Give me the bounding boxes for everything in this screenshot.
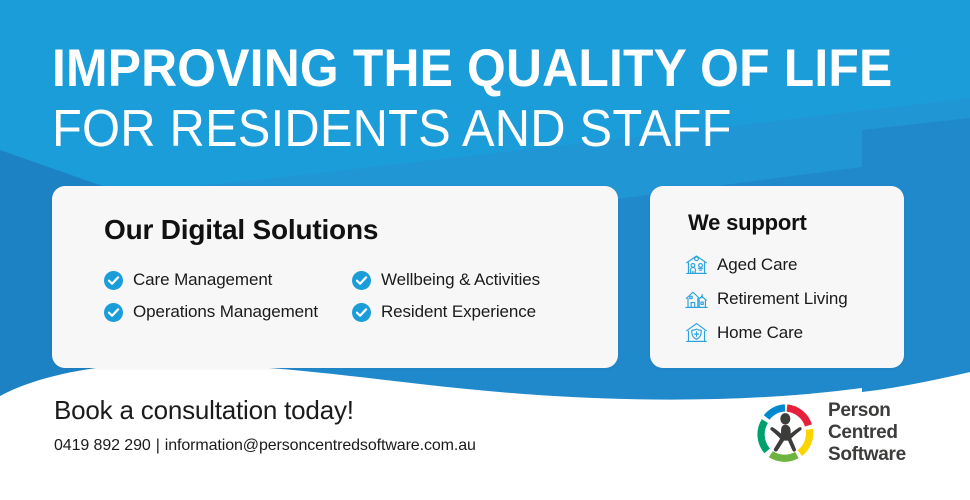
headline-line-1: IMPROVING THE QUALITY OF LIFE bbox=[52, 42, 889, 95]
promotional-banner: IMPROVING THE QUALITY OF LIFE FOR RESIDE… bbox=[0, 0, 970, 500]
ring-segment-yellow bbox=[800, 429, 810, 453]
person-in-ring-logo-icon bbox=[752, 400, 818, 466]
contact-line: 0419 892 290|information@personcentredso… bbox=[54, 437, 476, 455]
headline-line-2: FOR RESIDENTS AND STAFF bbox=[52, 103, 889, 155]
logo-line-3: Software bbox=[828, 444, 906, 466]
list-item-label: Retirement Living bbox=[717, 289, 848, 309]
person-figure bbox=[770, 413, 801, 451]
logo-wordmark: Person Centred Software bbox=[828, 400, 906, 467]
list-item-label: Care Management bbox=[133, 270, 272, 290]
headline: IMPROVING THE QUALITY OF LIFE FOR RESIDE… bbox=[52, 42, 942, 155]
list-item: Aged Care bbox=[684, 252, 848, 277]
we-support-title: We support bbox=[688, 210, 807, 236]
phone-number[interactable]: 0419 892 290 bbox=[54, 437, 151, 454]
retirement-living-house-icon bbox=[684, 286, 709, 311]
list-item-label: Wellbeing & Activities bbox=[381, 270, 540, 290]
list-item-label: Aged Care bbox=[717, 255, 797, 275]
check-circle-icon bbox=[352, 303, 371, 322]
digital-solutions-list: Care Management Wellbeing & Activities O… bbox=[104, 270, 604, 322]
check-circle-icon bbox=[352, 271, 371, 290]
list-item: Resident Experience bbox=[352, 302, 600, 322]
list-item-label: Resident Experience bbox=[381, 302, 536, 322]
company-logo: Person Centred Software bbox=[752, 398, 912, 468]
check-circle-icon bbox=[104, 271, 123, 290]
ring-segment-teal bbox=[761, 421, 767, 451]
we-support-card: We support Aged Care bbox=[650, 186, 904, 368]
home-care-shield-icon bbox=[684, 320, 709, 345]
aged-care-home-icon bbox=[684, 252, 709, 277]
list-item: Retirement Living bbox=[684, 286, 848, 311]
list-item-label: Operations Management bbox=[133, 302, 318, 322]
list-item: Home Care bbox=[684, 320, 848, 345]
we-support-list: Aged Care Retirement Living bbox=[684, 252, 848, 354]
cta-text: Book a consultation today! bbox=[54, 395, 354, 426]
list-item: Wellbeing & Activities bbox=[352, 270, 600, 290]
list-item: Operations Management bbox=[104, 302, 352, 322]
contact-separator: | bbox=[156, 437, 160, 454]
list-item: Care Management bbox=[104, 270, 352, 290]
email-address[interactable]: information@personcentredsoftware.com.au bbox=[165, 437, 476, 454]
digital-solutions-title: Our Digital Solutions bbox=[104, 214, 378, 246]
digital-solutions-card: Our Digital Solutions Care Management We… bbox=[52, 186, 618, 368]
ring-segment-red bbox=[787, 408, 808, 425]
ring-segment-green bbox=[771, 454, 797, 458]
logo-line-1: Person bbox=[828, 400, 906, 422]
logo-line-2: Centred bbox=[828, 422, 906, 444]
list-item-label: Home Care bbox=[717, 323, 803, 343]
check-circle-icon bbox=[104, 303, 123, 322]
